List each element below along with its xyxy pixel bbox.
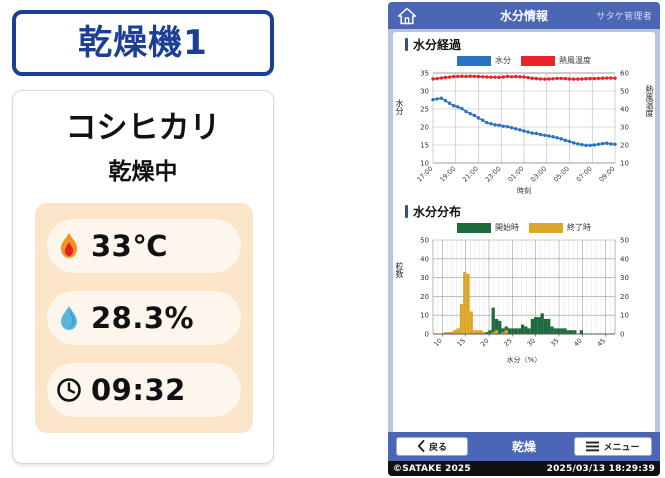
- menu-button-label: メニュー: [603, 440, 639, 453]
- svg-text:30: 30: [420, 274, 429, 282]
- svg-text:0: 0: [425, 331, 429, 339]
- legend-item-hotair: 熱風温度: [521, 55, 591, 66]
- legend-swatch-hotair: [521, 56, 555, 66]
- accent-bar: [405, 205, 408, 218]
- machine-title-box: 乾燥機1: [12, 10, 274, 76]
- svg-text:19:00: 19:00: [438, 165, 457, 184]
- metric-row-moisture: 28.3%: [47, 291, 241, 345]
- remaining-time-value: 09:32: [91, 376, 186, 405]
- svg-text:10: 10: [620, 160, 629, 168]
- legend-item-moisture: 水分: [457, 55, 511, 66]
- dryer-status-panel: 乾燥機1 コシヒカリ 乾燥中 33℃: [8, 4, 282, 472]
- user-label: サタケ管理者: [596, 9, 652, 22]
- copyright-label: ©SATAKE 2025: [393, 464, 471, 474]
- metrics-box: 33℃ 28.3%: [35, 203, 253, 433]
- legend-swatch-start: [457, 223, 491, 233]
- back-button-label: 戻る: [429, 440, 447, 453]
- moisture-distribution-section: 水分分布 開始時 終了時 001010202030304040505010152…: [393, 205, 655, 368]
- svg-text:01:00: 01:00: [507, 165, 526, 184]
- legend-label-end: 終了時: [567, 222, 591, 233]
- moisture-distribution-title: 水分分布: [413, 206, 461, 218]
- svg-text:30: 30: [620, 124, 629, 132]
- temperature-value: 33℃: [91, 232, 168, 261]
- rice-variety-label: コシヒカリ: [13, 113, 273, 144]
- svg-text:50: 50: [420, 237, 429, 245]
- svg-text:10: 10: [432, 337, 444, 349]
- chevron-left-icon: [417, 437, 425, 456]
- hamburger-icon: [586, 437, 599, 456]
- terminal-header: 水分情報 サタケ管理者: [388, 2, 660, 29]
- moisture-distribution-legend: 開始時 終了時: [393, 222, 655, 233]
- water-drop-icon: [47, 304, 91, 332]
- svg-text:60: 60: [620, 70, 629, 78]
- flame-icon: [47, 232, 91, 260]
- svg-text:40: 40: [420, 255, 429, 263]
- moisture-trend-legend: 水分 熱風温度: [393, 55, 655, 66]
- svg-text:17:00: 17:00: [416, 165, 435, 184]
- terminal-status-bar: ©SATAKE 2025 2025/03/13 18:29:39: [388, 461, 660, 476]
- metric-row-time: 09:32: [47, 363, 241, 417]
- svg-text:50: 50: [620, 88, 629, 96]
- svg-text:時刻: 時刻: [517, 186, 531, 195]
- svg-text:40: 40: [620, 106, 629, 114]
- svg-text:35: 35: [549, 337, 561, 349]
- svg-text:20: 20: [620, 142, 629, 150]
- svg-text:50: 50: [620, 237, 629, 245]
- svg-text:20: 20: [620, 293, 629, 301]
- legend-item-start: 開始時: [457, 222, 519, 233]
- legend-label-start: 開始時: [495, 222, 519, 233]
- svg-text:25: 25: [502, 337, 514, 349]
- svg-text:15: 15: [456, 337, 468, 349]
- screenshot-root: 乾燥機1 コシヒカリ 乾燥中 33℃: [0, 0, 665, 478]
- svg-text:0: 0: [620, 331, 624, 339]
- legend-label-moisture: 水分: [495, 55, 511, 66]
- svg-text:07:00: 07:00: [575, 165, 594, 184]
- clock-icon: [47, 377, 91, 403]
- moisture-trend-title: 水分経過: [413, 39, 461, 51]
- svg-text:09:00: 09:00: [598, 165, 617, 184]
- menu-button[interactable]: メニュー: [574, 437, 652, 456]
- moisture-distribution-heading: 水分分布: [405, 205, 655, 218]
- svg-text:30: 30: [420, 88, 429, 96]
- home-icon[interactable]: [397, 6, 417, 26]
- svg-text:45: 45: [596, 337, 608, 349]
- svg-text:10: 10: [420, 312, 429, 320]
- moisture-trend-section: 水分経過 水分 熱風温度 10152025303510203040506017:…: [393, 38, 655, 199]
- svg-text:30: 30: [526, 337, 538, 349]
- line-chart-svg: 10152025303510203040506017:0019:0021:002…: [393, 67, 655, 195]
- control-terminal: 水分情報 サタケ管理者 水分経過 水分 熱風温度: [388, 2, 660, 476]
- terminal-body: 水分経過 水分 熱風温度 10152025303510203040506017:…: [393, 32, 655, 436]
- machine-title: 乾燥機1: [78, 26, 208, 60]
- back-button[interactable]: 戻る: [396, 437, 468, 456]
- dryer-status-label: 乾燥中: [13, 161, 273, 184]
- svg-text:40: 40: [572, 337, 584, 349]
- svg-text:03:00: 03:00: [529, 165, 548, 184]
- svg-text:30: 30: [620, 274, 629, 282]
- svg-text:水分（%）: 水分（%）: [507, 355, 542, 364]
- legend-label-hotair: 熱風温度: [559, 55, 591, 66]
- svg-text:25: 25: [420, 106, 429, 114]
- svg-text:15: 15: [420, 142, 429, 150]
- datetime-label: 2025/03/13 18:29:39: [547, 464, 655, 474]
- bar-chart-svg: 00101020203030404050501015202530354045水分…: [393, 234, 655, 364]
- svg-text:20: 20: [420, 124, 429, 132]
- svg-text:40: 40: [620, 255, 629, 263]
- accent-bar: [405, 38, 408, 51]
- svg-text:35: 35: [420, 70, 429, 78]
- moisture-distribution-plot: 00101020203030404050501015202530354045水分…: [393, 234, 655, 368]
- y-axis-label-grain-count: 粒数: [395, 262, 403, 278]
- legend-item-end: 終了時: [529, 222, 591, 233]
- moisture-trend-heading: 水分経過: [405, 38, 655, 51]
- dryer-info-card: コシヒカリ 乾燥中 33℃: [12, 90, 274, 464]
- legend-swatch-moisture: [457, 56, 491, 66]
- svg-text:20: 20: [420, 293, 429, 301]
- terminal-nav-bar: 戻る 乾燥 メニュー: [388, 432, 660, 461]
- legend-swatch-end: [529, 223, 563, 233]
- y2-axis-label-hotair: 熱風温度: [645, 85, 653, 117]
- moisture-value: 28.3%: [91, 304, 194, 333]
- svg-text:10: 10: [620, 312, 629, 320]
- svg-text:21:00: 21:00: [461, 165, 480, 184]
- svg-text:23:00: 23:00: [484, 165, 503, 184]
- y-axis-label-moisture: 水分: [395, 99, 403, 115]
- svg-text:05:00: 05:00: [552, 165, 571, 184]
- svg-text:20: 20: [479, 337, 491, 349]
- metric-row-temperature: 33℃: [47, 219, 241, 273]
- moisture-trend-plot: 10152025303510203040506017:0019:0021:002…: [393, 67, 655, 199]
